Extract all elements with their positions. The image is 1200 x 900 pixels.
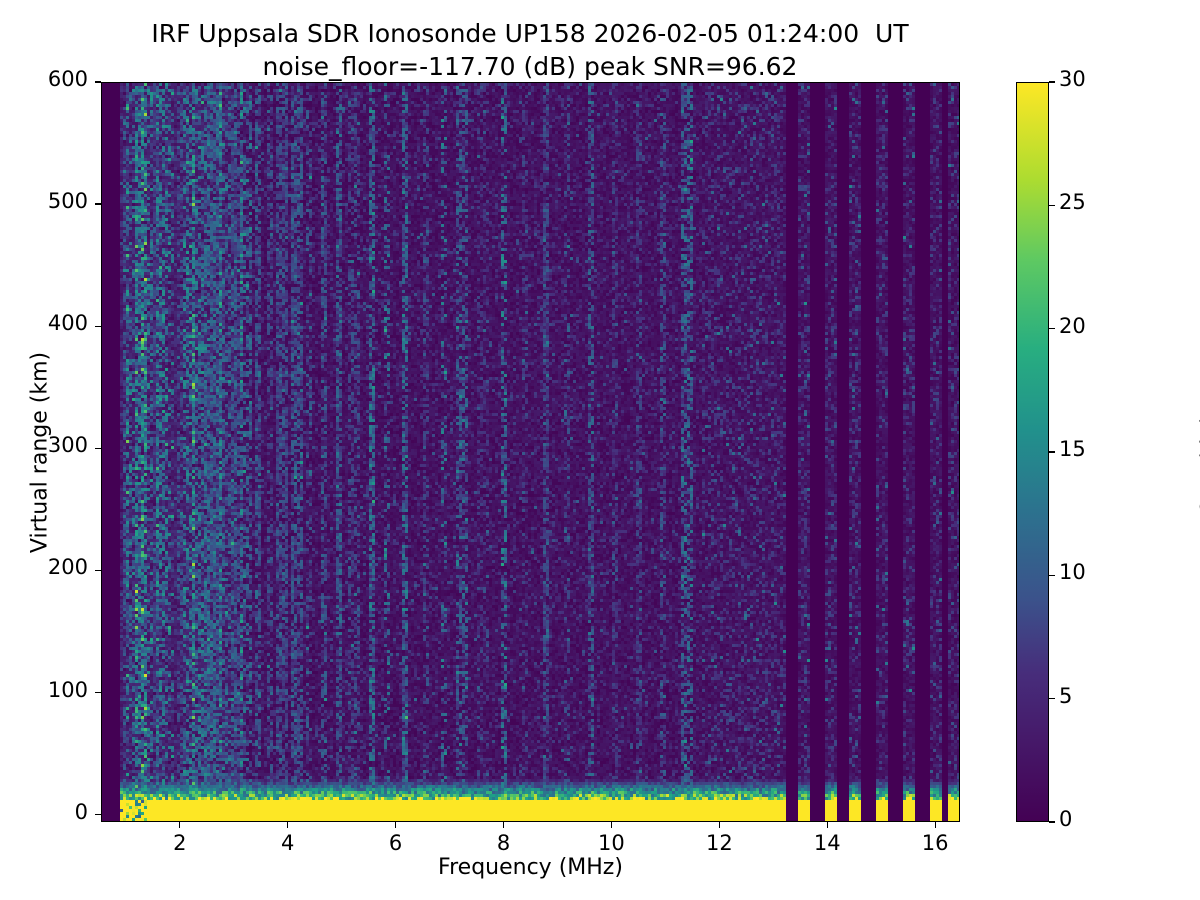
y-tick-200 (95, 570, 101, 571)
x-tick-14 (827, 822, 828, 828)
x-axis-label: Frequency (MHz) (101, 855, 960, 880)
y-tick-0 (95, 814, 101, 815)
ionogram-heatmap (102, 83, 960, 822)
colorbar-tick-15 (1049, 451, 1055, 452)
x-ticklabel-4: 4 (248, 831, 328, 855)
x-ticklabel-14: 14 (787, 831, 867, 855)
y-tick-400 (95, 326, 101, 327)
colorbar-tick-10 (1049, 575, 1055, 576)
x-tick-16 (935, 822, 936, 828)
ionogram-figure: IRF Uppsala SDR Ionosonde UP158 2026-02-… (0, 0, 1200, 900)
x-tick-12 (719, 822, 720, 828)
x-ticklabel-16: 16 (895, 831, 975, 855)
x-tick-8 (503, 822, 504, 828)
colorbar-tick-25 (1049, 205, 1055, 206)
y-tick-100 (95, 692, 101, 693)
x-ticklabel-10: 10 (571, 831, 651, 855)
figure-title: IRF Uppsala SDR Ionosonde UP158 2026-02-… (0, 18, 1060, 83)
y-tick-300 (95, 448, 101, 449)
x-ticklabel-8: 8 (464, 831, 544, 855)
colorbar-tick-20 (1049, 328, 1055, 329)
x-tick-4 (287, 822, 288, 828)
colorbar-ticklabel-20: 20 (1059, 314, 1086, 338)
x-tick-2 (179, 822, 180, 828)
title-line-2: noise_floor=-117.70 (dB) peak SNR=96.62 (0, 51, 1060, 84)
x-ticklabel-2: 2 (140, 831, 220, 855)
title-line-1: IRF Uppsala SDR Ionosonde UP158 2026-02-… (0, 18, 1060, 51)
x-tick-6 (395, 822, 396, 828)
x-ticklabel-6: 6 (356, 831, 436, 855)
colorbar[interactable] (1016, 82, 1049, 822)
x-tick-10 (611, 822, 612, 828)
x-ticklabel-12: 12 (679, 831, 759, 855)
y-tick-500 (95, 203, 101, 204)
colorbar-ticklabel-10: 10 (1059, 560, 1086, 584)
colorbar-tick-0 (1049, 821, 1055, 822)
colorbar-tick-5 (1049, 698, 1055, 699)
colorbar-tick-30 (1049, 81, 1055, 82)
colorbar-ticklabel-15: 15 (1059, 437, 1086, 461)
ionogram-plot-area[interactable] (101, 82, 960, 822)
colorbar-ticklabel-5: 5 (1059, 684, 1072, 708)
y-axis-label: Virtual range (km) (28, 83, 53, 823)
y-tick-600 (95, 81, 101, 82)
colorbar-ticklabel-30: 30 (1059, 67, 1086, 91)
colorbar-ticklabel-25: 25 (1059, 190, 1086, 214)
colorbar-ticklabel-0: 0 (1059, 807, 1072, 831)
